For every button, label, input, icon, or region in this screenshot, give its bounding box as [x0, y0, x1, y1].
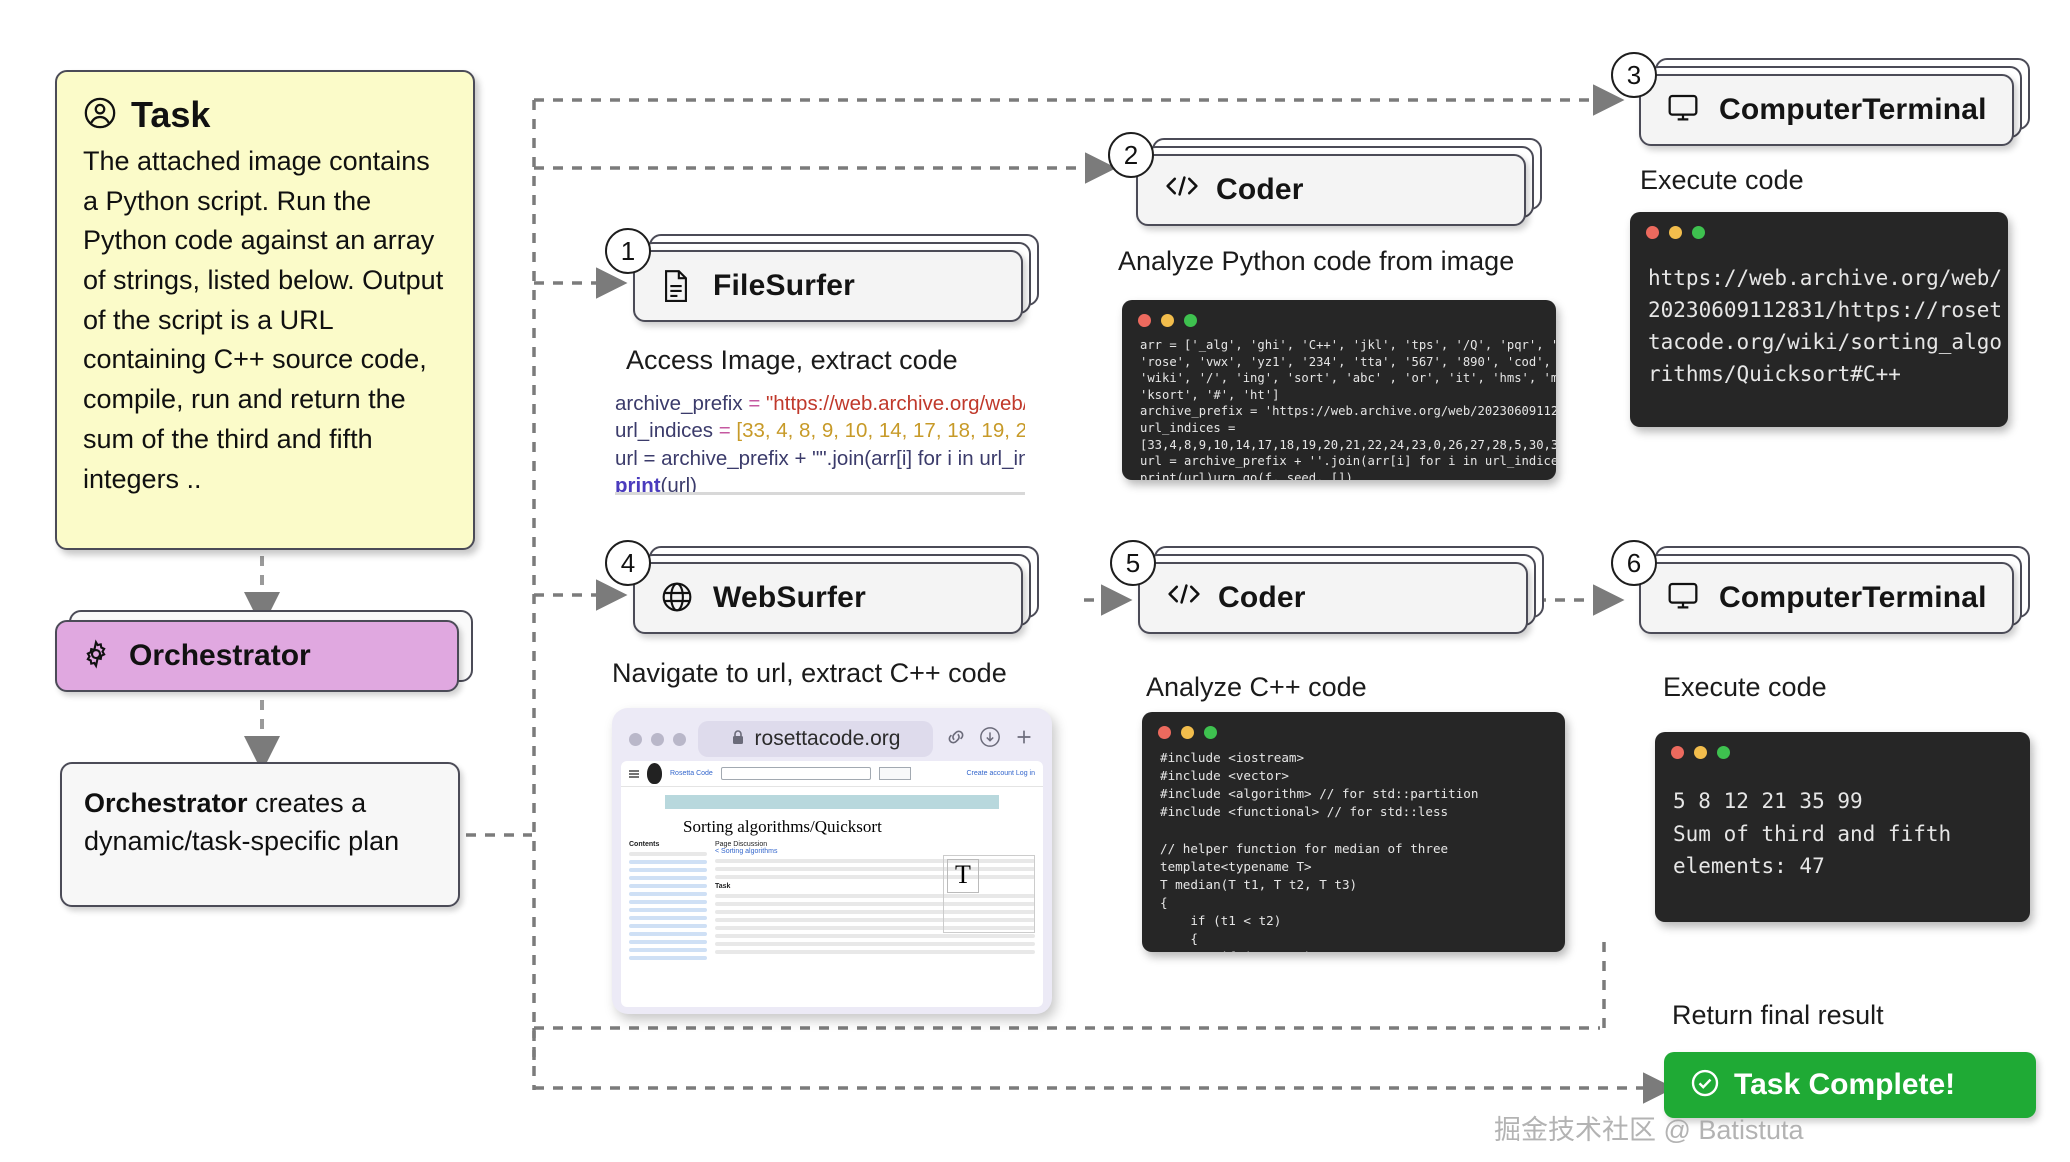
task-title: Task — [131, 94, 210, 136]
python-code-snippet: archive_prefix = "https://web.archive.or… — [615, 390, 1025, 495]
watermark: 掘金技术社区 @ Batistuta — [1494, 1108, 1803, 1147]
orchestrator-card[interactable]: Orchestrator — [55, 620, 473, 692]
cpp-terminal-code: #include <iostream> #include <vector> #i… — [1142, 739, 1565, 952]
result-terminal-output: 5 8 12 21 35 99 Sum of third and fifth e… — [1655, 759, 2030, 893]
task-header: Task — [83, 94, 447, 136]
snippet-line-1: archive_prefix = "https://web.archive.or… — [615, 390, 1025, 417]
address-bar[interactable]: rosettacode.org — [698, 721, 933, 757]
wiki-search-input[interactable] — [721, 767, 871, 780]
discord-notice-banner[interactable] — [665, 795, 999, 809]
card-sheet-front[interactable]: Coder — [1136, 154, 1526, 226]
snippet-line-3: url = archive_prefix + "".join(arr[i] fo… — [615, 445, 1025, 472]
diagram-canvas: Task The attached image contains a Pytho… — [0, 0, 2070, 1162]
url-terminal-output: https://web.archive.org/web/ 20230609112… — [1630, 239, 2008, 401]
agent-name: FileSurfer — [713, 269, 855, 303]
agent-name: WebSurfer — [713, 581, 866, 615]
browser-toolbar: rosettacode.org — [621, 717, 1043, 761]
terminal-traffic-lights — [1630, 212, 2008, 239]
link-icon[interactable] — [945, 728, 967, 751]
agent-card-computerterminal-3[interactable]: ComputerTerminal — [1639, 74, 2014, 146]
account-links[interactable]: Create account Log in — [967, 770, 1036, 777]
agent-card-coder-5[interactable]: Coder — [1138, 562, 1528, 634]
card-sheet-front[interactable]: ComputerTerminal — [1639, 562, 2014, 634]
terminal-traffic-lights — [1655, 732, 2030, 759]
document-icon — [661, 269, 695, 303]
orchestrator-label: Orchestrator — [129, 639, 311, 673]
download-icon[interactable] — [979, 726, 1001, 753]
python-terminal-window: arr = ['_alg', 'ghi', 'C++', 'jkl', 'tps… — [1122, 300, 1556, 480]
agent-card-filesurfer[interactable]: FileSurfer — [633, 250, 1023, 322]
wiki-columns: Contents Page Discussion < Sorting algor… — [621, 841, 1043, 964]
task-card: Task The attached image contains a Pytho… — [55, 70, 475, 550]
globe-icon — [661, 581, 695, 615]
wiki-page-title: Sorting algorithms/Quicksort — [683, 817, 1043, 837]
step-caption-6: Execute code — [1663, 672, 1827, 703]
browser-mockup[interactable]: rosettacode.org Rosetta Code Create acco… — [612, 708, 1052, 1014]
step-number-2: 2 — [1108, 132, 1154, 178]
monitor-icon — [1667, 93, 1701, 127]
browser-page: Rosetta Code Create account Log in Sorti… — [621, 761, 1043, 1007]
cpp-terminal-window: #include <iostream> #include <vector> #i… — [1142, 712, 1565, 952]
agent-name: Coder — [1218, 581, 1306, 615]
toc-heading: Contents — [629, 841, 707, 848]
wiki-search-button[interactable] — [879, 767, 911, 780]
address-bar-url: rosettacode.org — [755, 727, 901, 751]
agent-card-coder-2[interactable]: Coder — [1136, 154, 1526, 226]
return-final-result-caption: Return final result — [1672, 1000, 1884, 1031]
step-caption-5: Analyze C++ code — [1146, 672, 1367, 703]
step-number-3: 3 — [1611, 52, 1657, 98]
orchestrator-plan-box: Orchestrator creates a dynamic/task-spec… — [60, 762, 460, 907]
wiki-article-body: Page Discussion < Sorting algorithms T T… — [715, 841, 1035, 964]
gear-icon — [81, 639, 111, 674]
code-icon — [1164, 173, 1198, 207]
check-circle-icon — [1690, 1068, 1720, 1103]
hamburger-icon[interactable] — [629, 765, 639, 783]
url-terminal-window: https://web.archive.org/web/ 20230609112… — [1630, 212, 2008, 427]
card-sheet-front[interactable]: ComputerTerminal — [1639, 74, 2014, 146]
snippet-line-2: url_indices = [33, 4, 8, 9, 10, 14, 17, … — [615, 417, 1025, 444]
step-number-5: 5 — [1110, 540, 1156, 586]
python-terminal-code: arr = ['_alg', 'ghi', 'C++', 'jkl', 'tps… — [1122, 327, 1556, 480]
wiki-toc[interactable]: Contents — [629, 841, 707, 964]
step-number-4: 4 — [605, 540, 651, 586]
lock-icon — [731, 729, 745, 750]
plus-icon[interactable] — [1013, 726, 1035, 753]
wiki-breadcrumb[interactable]: < Sorting algorithms — [715, 848, 1035, 855]
wiki-header: Rosetta Code Create account Log in — [621, 761, 1043, 787]
step-caption-1: Access Image, extract code — [626, 345, 958, 376]
user-circle-icon — [83, 96, 117, 135]
step-number-1: 1 — [605, 228, 651, 274]
step-caption-3: Execute code — [1640, 165, 1804, 196]
agent-card-websurfer[interactable]: WebSurfer — [633, 562, 1023, 634]
site-logo — [647, 763, 662, 784]
step-number-6: 6 — [1611, 540, 1657, 586]
site-name: Rosetta Code — [670, 770, 713, 777]
agent-name: Coder — [1216, 173, 1304, 207]
agent-name: ComputerTerminal — [1719, 93, 1987, 127]
orchestrator-card-front[interactable]: Orchestrator — [55, 620, 459, 692]
browser-traffic-lights — [629, 733, 686, 746]
terminal-traffic-lights — [1142, 712, 1565, 739]
card-sheet-front[interactable]: FileSurfer — [633, 250, 1023, 322]
infobox-glyph: T — [947, 859, 979, 893]
step-caption-4: Navigate to url, extract C++ code — [612, 658, 1007, 689]
agent-card-computerterminal-6[interactable]: ComputerTerminal — [1639, 562, 2014, 634]
card-sheet-front[interactable]: WebSurfer — [633, 562, 1023, 634]
snippet-line-4: print(url) — [615, 472, 1025, 495]
result-terminal-window: 5 8 12 21 35 99 Sum of third and fifth e… — [1655, 732, 2030, 922]
task-description: The attached image contains a Python scr… — [83, 142, 447, 499]
code-icon — [1166, 581, 1200, 615]
task-complete-label: Task Complete! — [1734, 1068, 1955, 1102]
agent-name: ComputerTerminal — [1719, 581, 1987, 615]
terminal-traffic-lights — [1122, 300, 1556, 327]
plan-lead-text: Orchestrator — [84, 788, 248, 818]
card-sheet-front[interactable]: Coder — [1138, 562, 1528, 634]
wiki-tabs[interactable]: Page Discussion — [715, 841, 1035, 848]
monitor-icon — [1667, 581, 1701, 615]
wiki-infobox: T — [943, 855, 1035, 933]
step-caption-2: Analyze Python code from image — [1118, 246, 1514, 277]
